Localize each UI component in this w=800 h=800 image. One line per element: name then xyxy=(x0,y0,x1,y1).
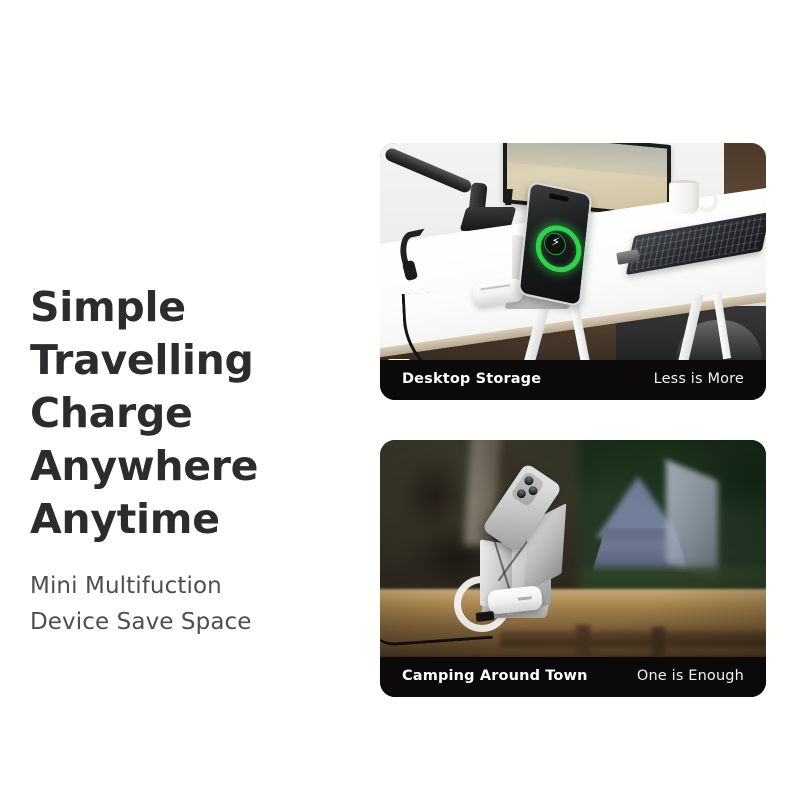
copy-block: Simple Travelling Charge Anywhere Anytim… xyxy=(30,281,380,640)
tent-side-panel xyxy=(666,459,718,584)
rail-post xyxy=(576,625,590,657)
caption-bar-desktop: Desktop Storage Less is More xyxy=(380,360,766,400)
table-rail xyxy=(500,631,766,647)
caption-secondary-camping: One is Enough xyxy=(637,668,744,684)
photo-desktop-scene: ⚡ xyxy=(380,143,766,360)
page-subtitle: Mini Multifuction Device Save Space xyxy=(30,568,380,640)
rail-post xyxy=(652,627,665,657)
phone-notch xyxy=(549,193,569,202)
smartphone: ⚡ xyxy=(518,181,593,308)
page-title: Simple Travelling Charge Anywhere Anytim… xyxy=(30,281,380,546)
photo-camping-scene xyxy=(380,440,766,657)
caption-primary-desktop: Desktop Storage xyxy=(402,371,541,387)
caption-primary-camping: Camping Around Town xyxy=(402,668,588,684)
cable-plug xyxy=(476,611,495,622)
banner-stage: Simple Travelling Charge Anywhere Anytim… xyxy=(0,0,800,800)
caption-secondary-desktop: Less is More xyxy=(654,371,744,387)
feature-card-camping[interactable]: Camping Around Town One is Enough xyxy=(380,440,766,697)
lightning-bolt-icon: ⚡ xyxy=(551,235,561,250)
feature-card-desktop[interactable]: ⚡ Desktop Storage Less is More xyxy=(380,143,766,400)
coffee-mug-handle xyxy=(696,189,718,212)
coffee-mug xyxy=(669,183,699,214)
caption-bar-camping: Camping Around Town One is Enough xyxy=(380,657,766,697)
